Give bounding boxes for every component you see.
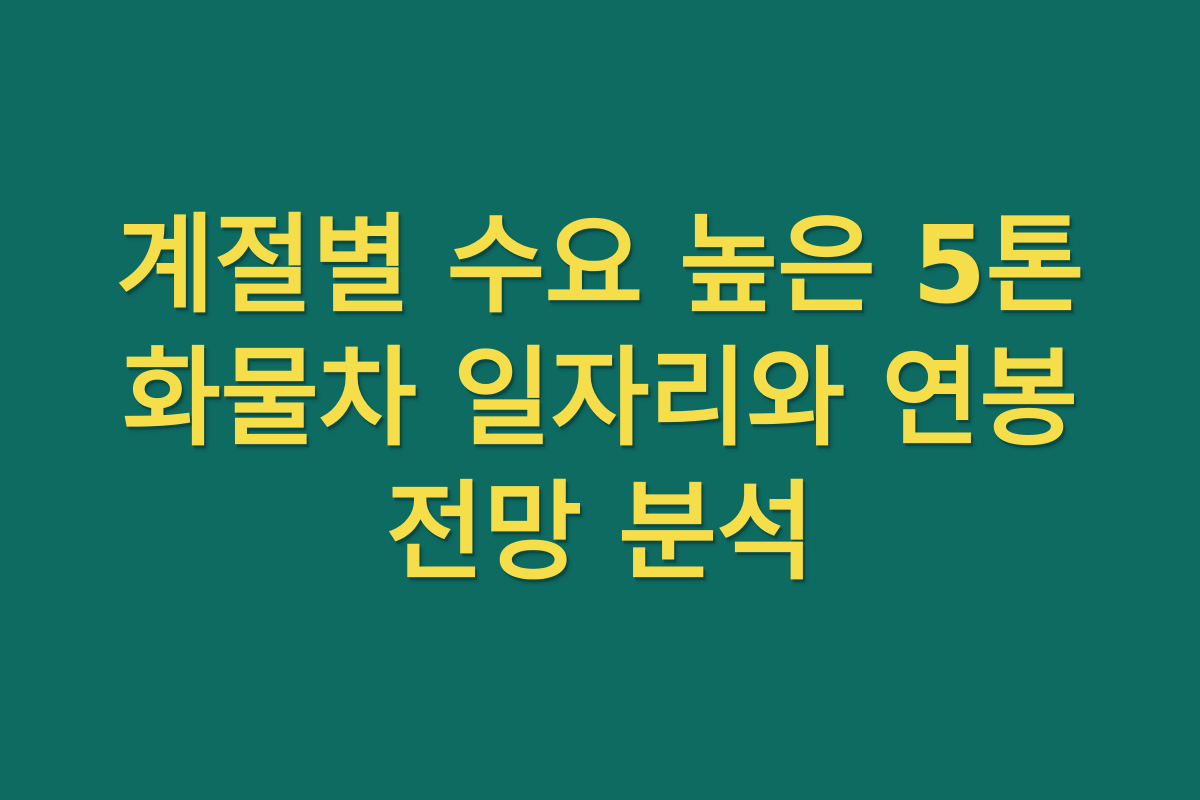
- title-banner: 계절별 수요 높은 5톤 화물차 일자리와 연봉 전망 분석: [0, 0, 1200, 800]
- banner-headline: 계절별 수요 높은 5톤 화물차 일자리와 연봉 전망 분석: [82, 200, 1118, 600]
